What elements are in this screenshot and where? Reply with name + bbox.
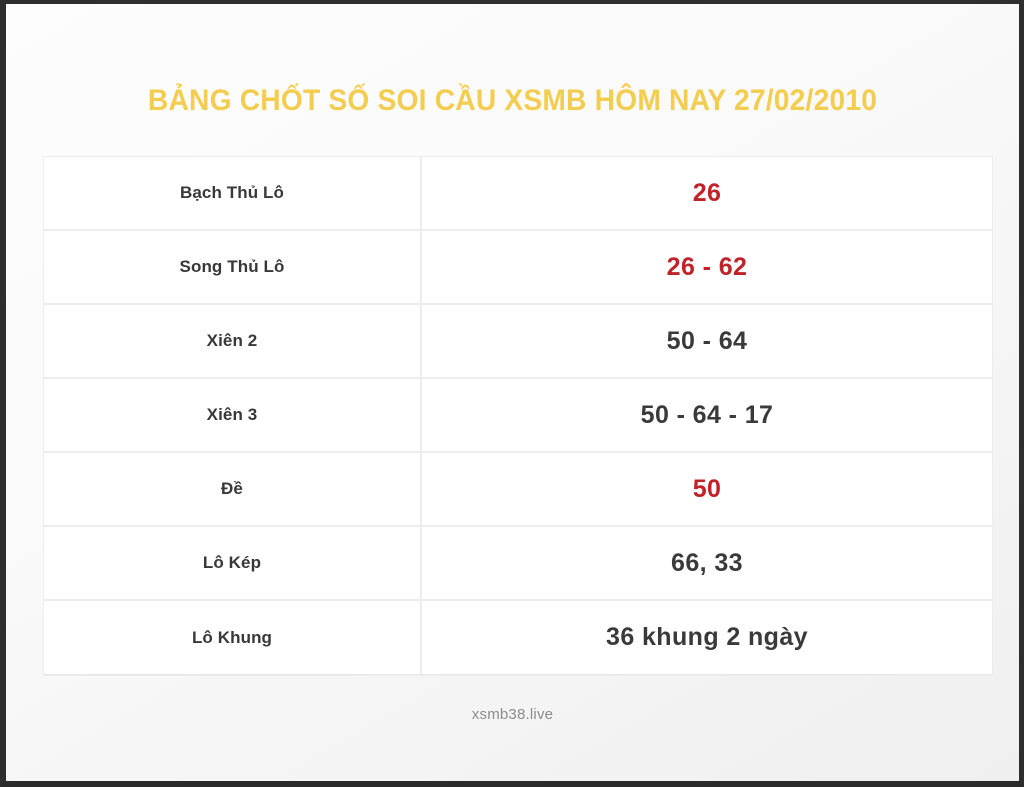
page-canvas: BẢNG CHỐT SỐ SOI CẦU XSMB HÔM NAY 27/02/…	[6, 4, 1019, 781]
row-value: 50 - 64	[422, 305, 992, 377]
row-label: Xiên 2	[44, 305, 422, 377]
table-row: Bạch Thủ Lô 26	[44, 157, 992, 231]
row-label: Song Thủ Lô	[44, 231, 422, 303]
table-row: Lô Khung 36 khung 2 ngày	[44, 601, 992, 675]
table-row: Lô Kép 66, 33	[44, 527, 992, 601]
soi-cau-table: Bạch Thủ Lô 26 Song Thủ Lô 26 - 62 Xiên …	[44, 157, 992, 675]
row-value: 36 khung 2 ngày	[422, 601, 992, 674]
row-value: 26 - 62	[422, 231, 992, 303]
table-row: Đề 50	[44, 453, 992, 527]
page-title: BẢNG CHỐT SỐ SOI CẦU XSMB HÔM NAY 27/02/…	[36, 82, 988, 120]
table-row: Song Thủ Lô 26 - 62	[44, 231, 992, 305]
row-value: 26	[422, 157, 992, 229]
row-label: Đề	[44, 453, 422, 525]
row-value: 50 - 64 - 17	[422, 379, 992, 451]
row-value: 66, 33	[422, 527, 992, 599]
site-watermark: xsmb38.live	[6, 706, 1019, 723]
row-value: 50	[422, 453, 992, 525]
image-frame: BẢNG CHỐT SỐ SOI CẦU XSMB HÔM NAY 27/02/…	[0, 0, 1024, 787]
table-row: Xiên 3 50 - 64 - 17	[44, 379, 992, 453]
row-label: Bạch Thủ Lô	[44, 157, 422, 229]
table-row: Xiên 2 50 - 64	[44, 305, 992, 379]
row-label: Lô Khung	[44, 601, 422, 674]
row-label: Lô Kép	[44, 527, 422, 599]
row-label: Xiên 3	[44, 379, 422, 451]
